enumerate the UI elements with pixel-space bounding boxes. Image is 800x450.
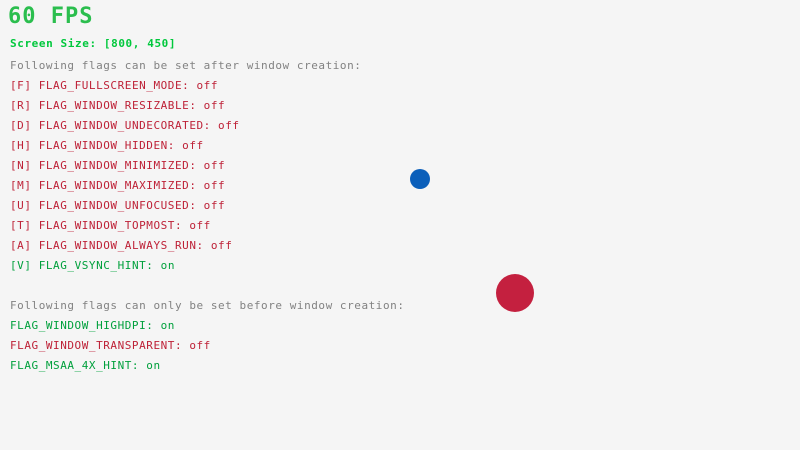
flag-row[interactable]: [R] FLAG_WINDOW_RESIZABLE: off [10, 99, 225, 112]
flag-shortcut-key: [R] [10, 99, 39, 112]
flag-state-value: on [139, 359, 161, 372]
flag-state-value: off [197, 199, 226, 212]
flag-name-label: FLAG_WINDOW_UNFOCUSED: [39, 199, 197, 212]
flag-state-value: on [153, 259, 175, 272]
flag-shortcut-key: [A] [10, 239, 39, 252]
flag-state-value: off [182, 339, 211, 352]
flag-state-value: off [204, 239, 233, 252]
flag-shortcut-key: [V] [10, 259, 39, 272]
screen-size-label: Screen Size: [800, 450] [10, 37, 176, 50]
fps-counter: 60 FPS [8, 5, 93, 29]
flag-name-label: FLAG_FULLSCREEN_MODE: [39, 79, 190, 92]
flag-name-label: FLAG_WINDOW_TRANSPARENT: [10, 339, 182, 352]
flag-name-label: FLAG_VSYNC_HINT: [39, 259, 154, 272]
flag-shortcut-key: [N] [10, 159, 39, 172]
flag-name-label: FLAG_WINDOW_UNDECORATED: [39, 119, 211, 132]
flag-state-value: on [153, 319, 175, 332]
flag-shortcut-key: [H] [10, 139, 39, 152]
section-heading-after-creation: Following flags can be set after window … [10, 59, 361, 72]
flag-shortcut-key: [U] [10, 199, 39, 212]
flag-shortcut-key: [M] [10, 179, 39, 192]
flag-name-label: FLAG_WINDOW_MINIMIZED: [39, 159, 197, 172]
flag-state-value: off [197, 179, 226, 192]
flag-row[interactable]: [D] FLAG_WINDOW_UNDECORATED: off [10, 119, 240, 132]
flag-row[interactable]: [H] FLAG_WINDOW_HIDDEN: off [10, 139, 204, 152]
red-ball-shape [496, 274, 534, 312]
flag-state-value: off [197, 99, 226, 112]
flag-state-value: off [197, 159, 226, 172]
flag-row[interactable]: [M] FLAG_WINDOW_MAXIMIZED: off [10, 179, 225, 192]
flag-state-value: off [189, 79, 218, 92]
flag-row[interactable]: FLAG_MSAA_4X_HINT: on [10, 359, 161, 372]
flag-name-label: FLAG_WINDOW_ALWAYS_RUN: [39, 239, 204, 252]
flag-shortcut-key: [T] [10, 219, 39, 232]
blue-ball-shape [410, 169, 430, 189]
flag-state-value: off [182, 219, 211, 232]
flag-name-label: FLAG_WINDOW_TOPMOST: [39, 219, 182, 232]
flag-name-label: FLAG_WINDOW_HIGHDPI: [10, 319, 153, 332]
flag-row[interactable]: [F] FLAG_FULLSCREEN_MODE: off [10, 79, 218, 92]
flag-row[interactable]: [U] FLAG_WINDOW_UNFOCUSED: off [10, 199, 225, 212]
flag-row[interactable]: FLAG_WINDOW_TRANSPARENT: off [10, 339, 211, 352]
flag-row[interactable]: [T] FLAG_WINDOW_TOPMOST: off [10, 219, 211, 232]
flag-row[interactable]: [N] FLAG_WINDOW_MINIMIZED: off [10, 159, 225, 172]
section-heading-before-creation: Following flags can only be set before w… [10, 299, 405, 312]
flag-row[interactable]: [A] FLAG_WINDOW_ALWAYS_RUN: off [10, 239, 232, 252]
flag-shortcut-key: [D] [10, 119, 39, 132]
flag-name-label: FLAG_MSAA_4X_HINT: [10, 359, 139, 372]
flag-name-label: FLAG_WINDOW_RESIZABLE: [39, 99, 197, 112]
flag-shortcut-key: [F] [10, 79, 39, 92]
flag-name-label: FLAG_WINDOW_HIDDEN: [39, 139, 175, 152]
flag-row[interactable]: [V] FLAG_VSYNC_HINT: on [10, 259, 175, 272]
flag-state-value: off [175, 139, 204, 152]
flag-state-value: off [211, 119, 240, 132]
flag-name-label: FLAG_WINDOW_MAXIMIZED: [39, 179, 197, 192]
flag-row[interactable]: FLAG_WINDOW_HIGHDPI: on [10, 319, 175, 332]
raylib-window-canvas: 60 FPS Screen Size: [800, 450] Following… [0, 0, 800, 450]
